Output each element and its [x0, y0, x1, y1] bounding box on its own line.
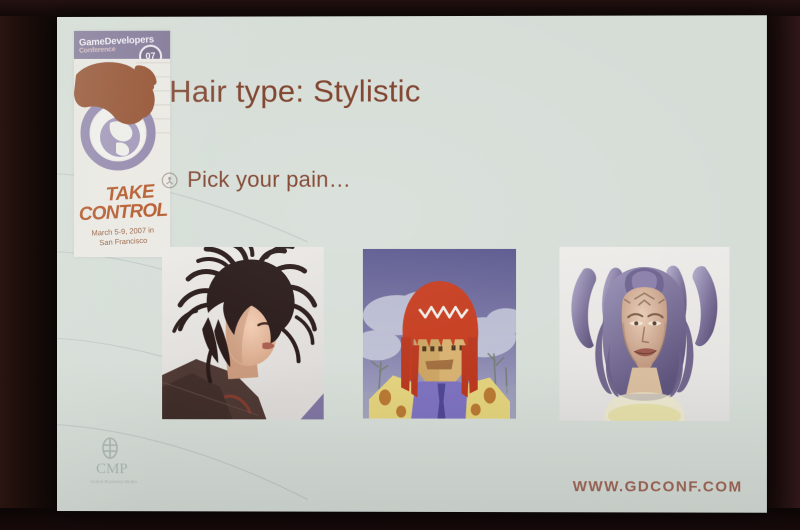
image-photoreal-spiky-black-hair	[162, 247, 324, 419]
gdc-tagline: TAKE CONTROL	[76, 183, 170, 224]
presentation-slide: GameDevelopers Conference 07	[57, 15, 767, 512]
cmp-logo-tagline: United Business Media	[90, 479, 137, 484]
gdc-conference-banner: GameDevelopers Conference 07	[74, 31, 170, 257]
image-lowpoly-red-hair-character	[363, 249, 516, 419]
gdc-tagline-line2: CONTROL	[75, 199, 170, 226]
image-painted-purple-horned-character	[559, 247, 729, 421]
slide-title: Hair type: Stylistic	[169, 73, 421, 110]
room-wall-left	[0, 0, 58, 530]
cmp-logo-text: CMP	[96, 461, 128, 477]
gdc-date-location: March 5-9, 2007 in San Francisco	[78, 225, 169, 250]
gdconf-url-footer: WWW.GDCONF.COM	[573, 478, 743, 495]
projection-scene: GameDevelopers Conference 07	[0, 0, 800, 530]
bullet-list-item: Pick your pain…	[161, 167, 351, 193]
hand-holding-globe-illustration	[74, 59, 170, 189]
room-wall-top	[0, 0, 800, 16]
bullet-text: Pick your pain…	[187, 167, 351, 193]
circle-emblem-bullet-icon	[161, 171, 178, 188]
cmp-sponsor-logo: CMP United Business Media	[80, 433, 166, 489]
gdc-banner-subtitle: Conference	[79, 46, 116, 55]
